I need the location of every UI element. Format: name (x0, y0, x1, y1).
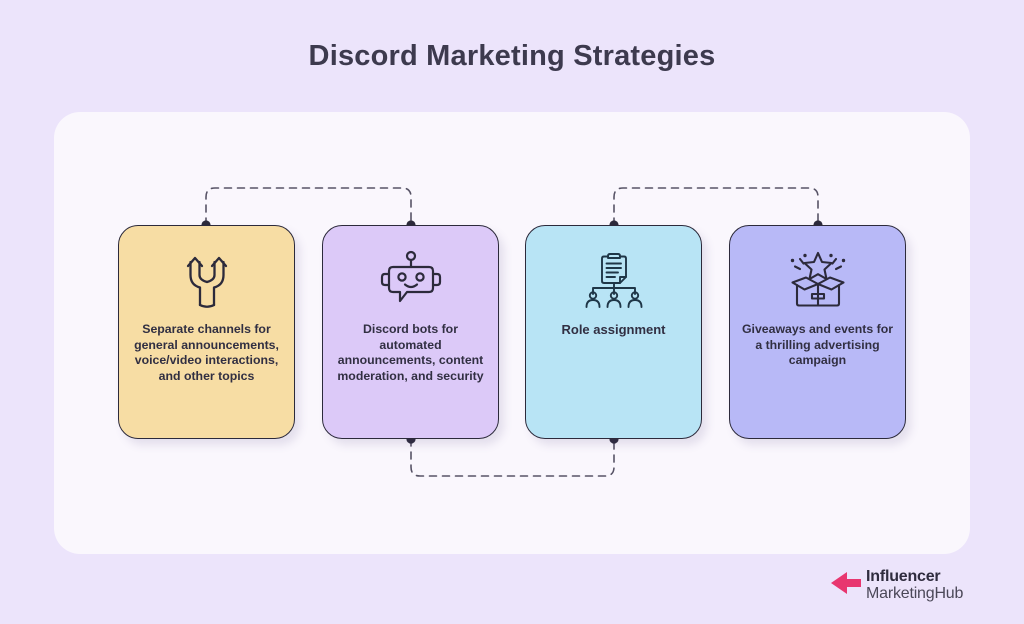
page-title: Discord Marketing Strategies (0, 40, 1024, 73)
split-arrows-icon (173, 248, 241, 310)
infographic-canvas: Discord Marketing Strategies (0, 0, 1024, 624)
card-label: Separate channels for general announceme… (128, 322, 286, 384)
card-label: Giveaways and events for a thrilling adv… (739, 322, 897, 369)
card-role-assignment[interactable]: Role assignment (525, 225, 702, 439)
logo-marketing-text: Marketing (866, 585, 934, 602)
card-discord-bots[interactable]: Discord bots for automated announcements… (322, 225, 499, 439)
clipboard-org-chart-icon (580, 248, 648, 310)
logo-wordmark: Influencer MarketingHub (866, 569, 963, 602)
logo-line-influencer: Influencer (866, 569, 963, 585)
logo-line-marketinghub: MarketingHub (866, 586, 963, 602)
robot-icon (377, 248, 445, 310)
logo-hub-text: Hub (934, 585, 963, 602)
card-label: Role assignment (535, 322, 693, 338)
influencer-marketing-hub-logo[interactable]: Influencer MarketingHub (829, 566, 963, 605)
arrow-mark-icon (829, 566, 863, 605)
card-separate-channels[interactable]: Separate channels for general announceme… (118, 225, 295, 439)
gift-box-star-icon (784, 248, 852, 310)
card-giveaways-events[interactable]: Giveaways and events for a thrilling adv… (729, 225, 906, 439)
card-label: Discord bots for automated announcements… (332, 322, 490, 384)
